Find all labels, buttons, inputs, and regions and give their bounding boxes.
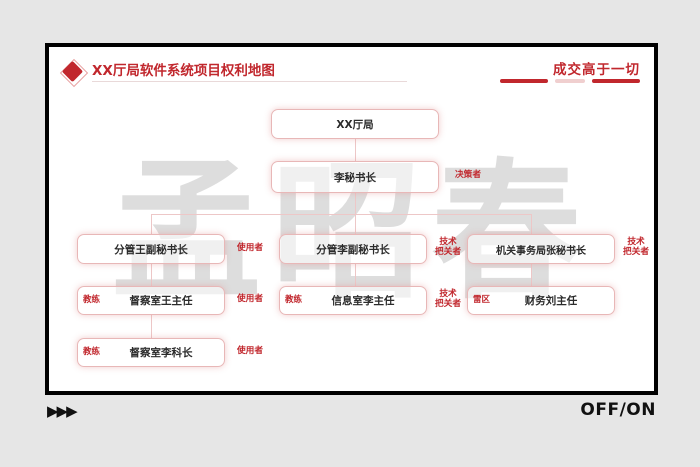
- tag-user-row5-left: 使用者: [229, 347, 271, 357]
- connector-n1-n2: [355, 139, 356, 161]
- connector-bus-row3: [151, 214, 531, 215]
- tag-line-2: 把关者: [431, 300, 465, 310]
- badge-coach: 教练: [285, 296, 302, 305]
- node-deputy-wang[interactable]: 分管王副秘书长: [77, 234, 225, 264]
- off-on-toggle[interactable]: OFF/ON: [580, 400, 656, 420]
- tag-tech-gatekeeper-row3-center: 技术 把关者: [431, 238, 465, 257]
- badge-coach: 教练: [83, 348, 100, 357]
- slogan-decoration: [500, 79, 640, 83]
- node-label: 督察室王主任: [104, 293, 224, 308]
- connector-drop-n5: [531, 214, 532, 234]
- node-secretary-li[interactable]: 李秘书长: [271, 161, 439, 193]
- page-title: XX厅局软件系统项目权利地图: [92, 59, 275, 79]
- slogan-bar-right: [592, 79, 640, 83]
- node-label: 分管李副秘书长: [280, 242, 426, 257]
- connector-n2-stub: [355, 193, 356, 214]
- connector-n5-n8: [531, 263, 532, 286]
- connector-n6-n9: [151, 315, 152, 338]
- connector-n3-n6: [151, 263, 152, 286]
- slide-header: XX厅局软件系统项目权利地图 成交高于一切: [49, 47, 654, 93]
- slogan-text: 成交高于一切: [553, 58, 640, 78]
- diamond-bullet-icon: [60, 59, 86, 85]
- tag-line-2: 把关者: [431, 248, 465, 258]
- tag-decision-maker: 决策者: [445, 171, 491, 181]
- node-xx-department[interactable]: XX厅局: [271, 109, 439, 139]
- node-label: XX厅局: [272, 117, 438, 132]
- node-label: 分管王副秘书长: [78, 242, 224, 257]
- title-divider: [92, 81, 407, 82]
- org-chart: XX厅局 李秘书长 决策者 分管王副秘书长 使用者 分管李副秘书长 技术 把关者…: [49, 93, 654, 395]
- slogan-bar-middle: [555, 79, 585, 83]
- node-deputy-li[interactable]: 分管李副秘书长: [279, 234, 427, 264]
- node-finance-liu[interactable]: 雷区 财务刘主任: [467, 286, 615, 315]
- tag-line-2: 把关者: [619, 248, 653, 258]
- tag-tech-gatekeeper-row3-right: 技术 把关者: [619, 238, 653, 257]
- node-affairs-bureau-zhang[interactable]: 机关事务局张秘书长: [467, 234, 615, 264]
- node-label: 财务刘主任: [494, 293, 614, 308]
- node-label: 机关事务局张秘书长: [468, 242, 614, 257]
- node-inspection-li[interactable]: 教练 督察室李科长: [77, 338, 225, 367]
- slogan-bar-left: [500, 79, 548, 83]
- tag-user-row4-left: 使用者: [229, 295, 271, 305]
- node-info-office-li[interactable]: 教练 信息室李主任: [279, 286, 427, 315]
- tag-tech-gatekeeper-row4-center: 技术 把关者: [431, 290, 465, 309]
- connector-n4-n7: [355, 263, 356, 286]
- badge-coach: 教练: [83, 296, 100, 305]
- node-label: 信息室李主任: [306, 293, 426, 308]
- connector-drop-n3: [151, 214, 152, 234]
- slide-footer: ▶▶▶ OFF/ON: [45, 400, 658, 430]
- node-inspection-wang[interactable]: 教练 督察室王主任: [77, 286, 225, 315]
- node-label: 李秘书长: [272, 170, 438, 185]
- slide-canvas: 孟昭春 XX厅局软件系统项目权利地图 成交高于一切: [45, 43, 658, 395]
- tag-user-row3-left: 使用者: [229, 244, 271, 254]
- connector-drop-n4: [355, 214, 356, 234]
- play-arrows-icon[interactable]: ▶▶▶: [47, 402, 76, 420]
- node-label: 督察室李科长: [104, 345, 224, 360]
- badge-minefield: 雷区: [473, 296, 490, 305]
